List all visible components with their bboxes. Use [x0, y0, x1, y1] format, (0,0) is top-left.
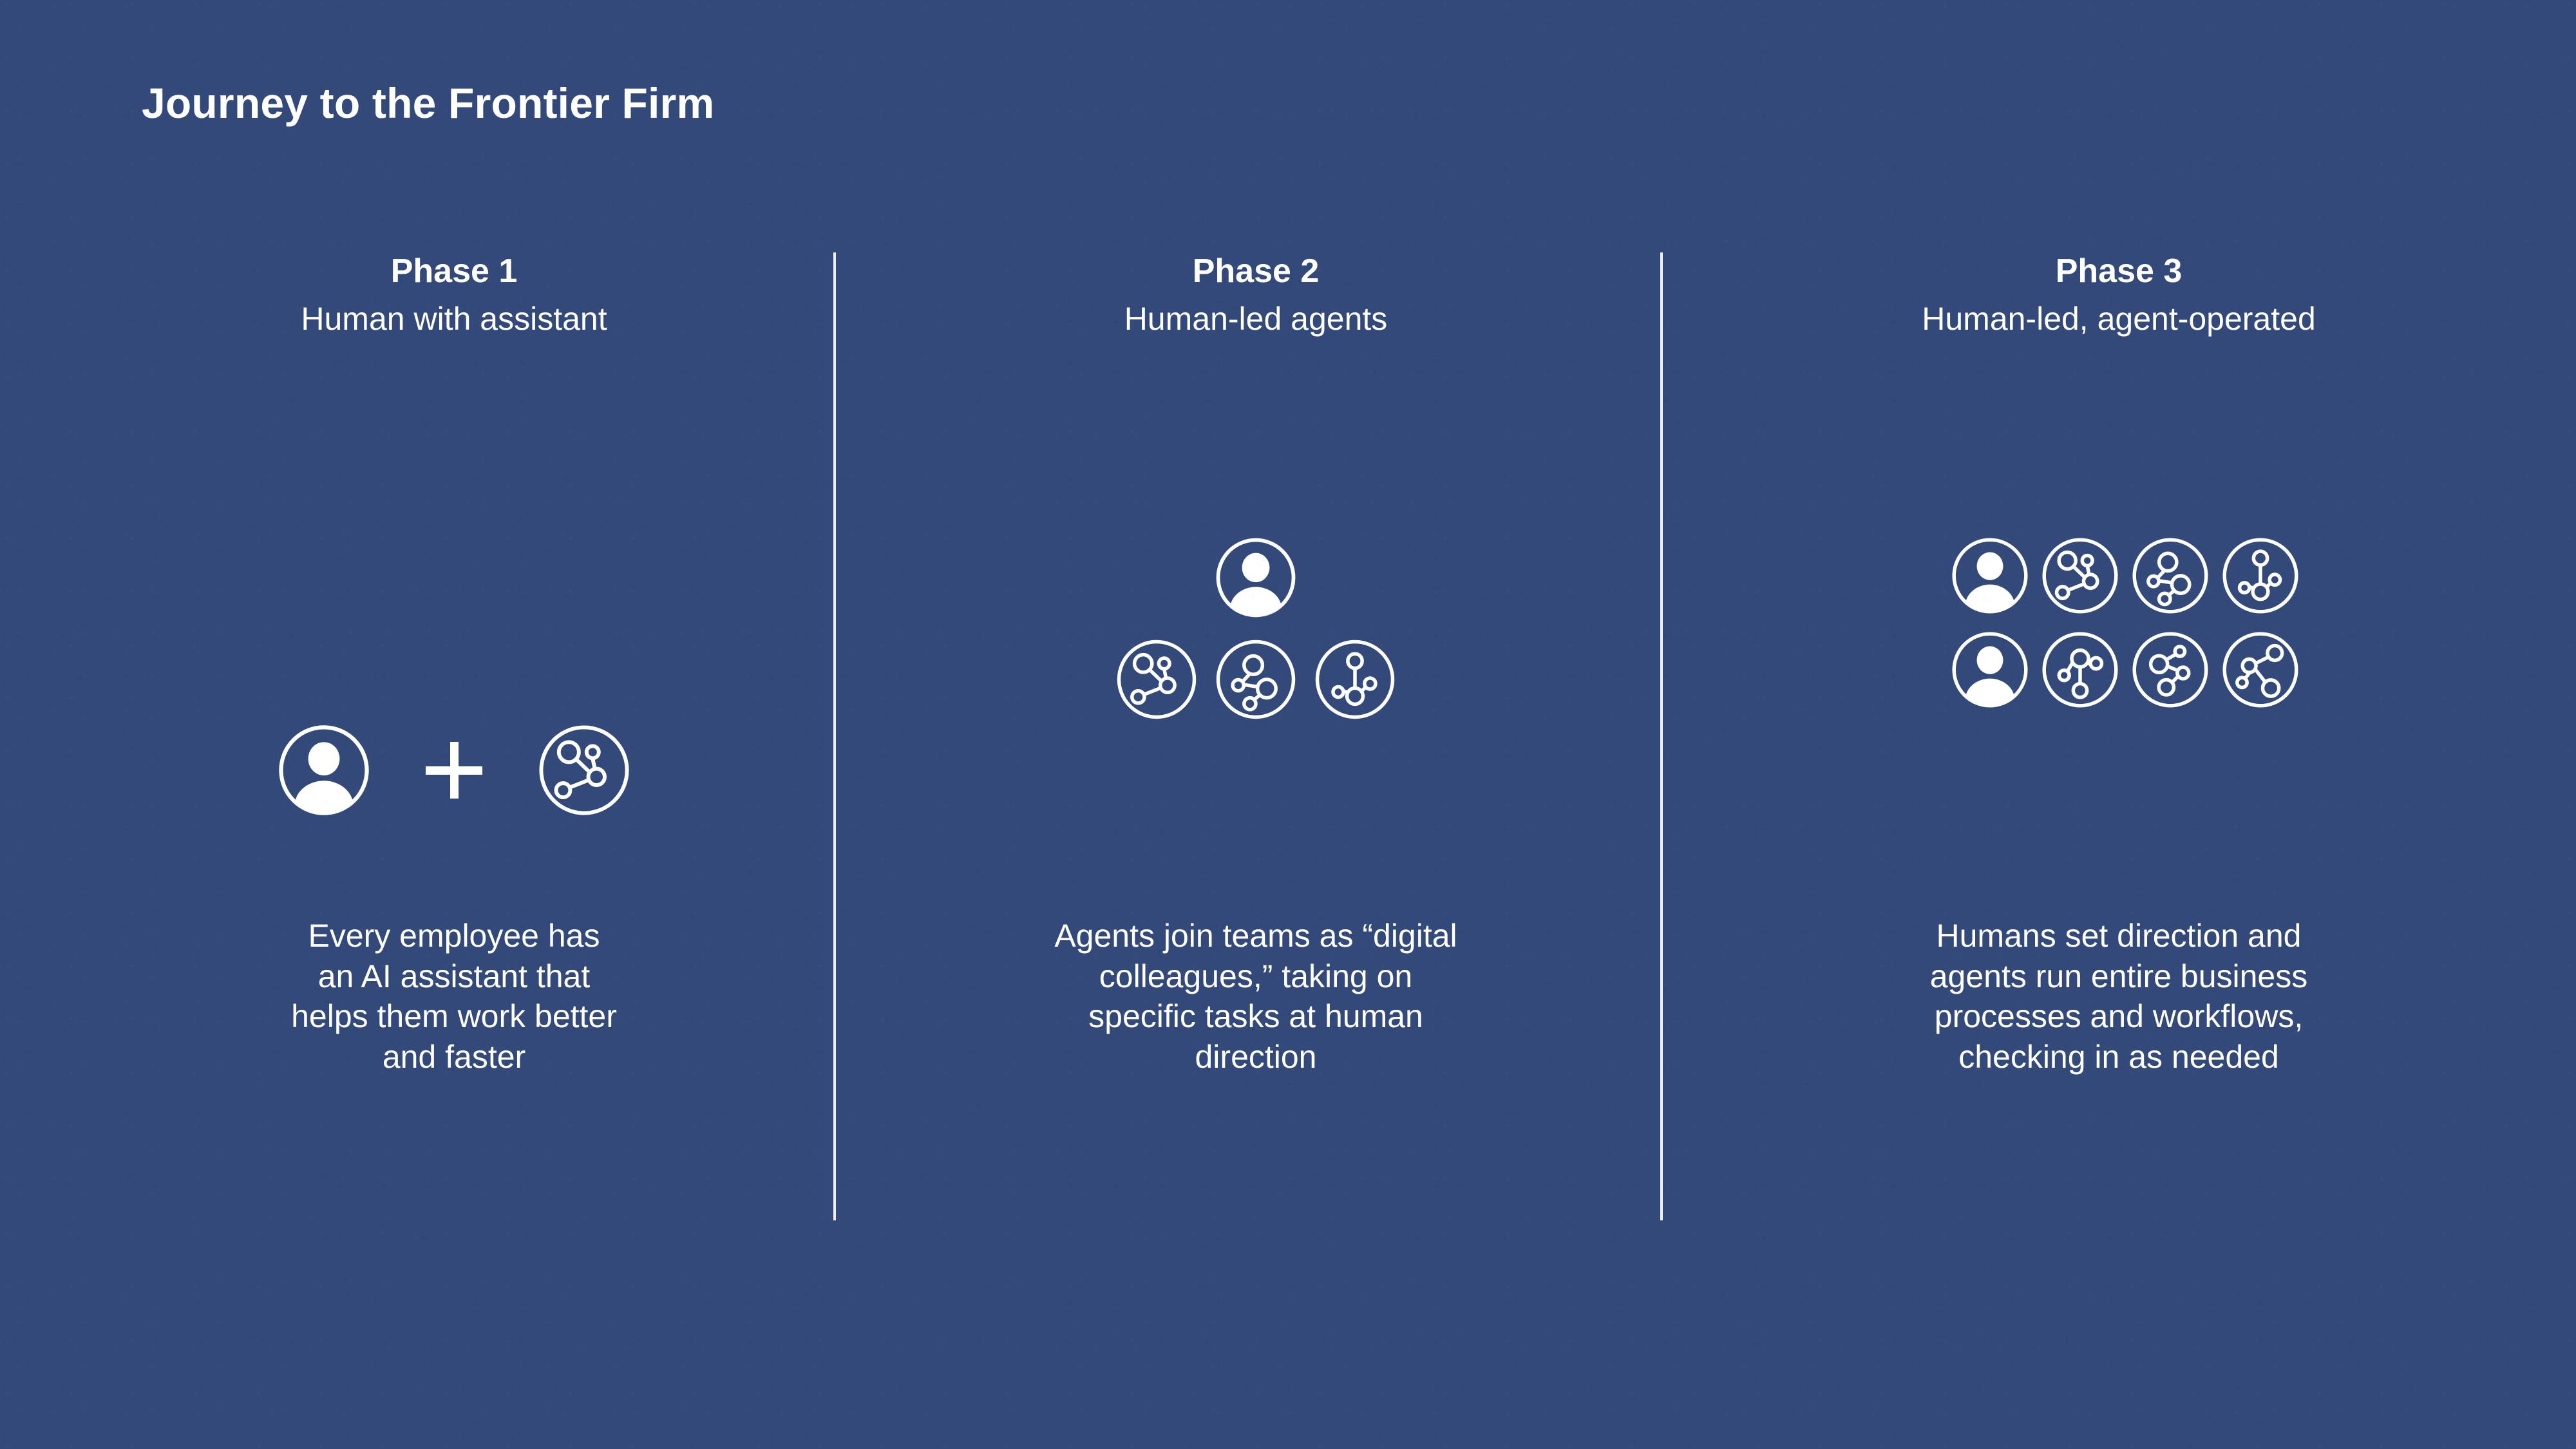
phase-3-icon-cluster [1803, 536, 2447, 710]
agent-network-icon [2040, 630, 2120, 710]
phase-2-human-row [902, 536, 1610, 620]
phase-3-body-line: Humans set direction and [1739, 916, 2499, 956]
phase-1-body-line: and faster [109, 1037, 799, 1077]
phase-2-body-line: direction [902, 1037, 1610, 1077]
phase-3-body: Humans set direction and agents run enti… [1739, 916, 2499, 1077]
agent-network-icon [1115, 638, 1198, 721]
column-divider-1 [833, 252, 836, 1220]
phase-2-label: Phase 2 [902, 252, 1610, 290]
phase-3-subtitle: Human-led, agent-operated [1739, 300, 2499, 338]
agent-network-icon [1214, 638, 1298, 721]
phase-1-label: Phase 1 [90, 252, 818, 290]
agent-network-icon [536, 723, 632, 818]
phase-2-agent-row [902, 638, 1610, 721]
agent-network-icon [2130, 536, 2210, 616]
phase-2-subtitle: Human-led agents [902, 300, 1610, 338]
phase-3-icon-row [1803, 630, 2447, 710]
phase-1-body-line: helps them work better [109, 996, 799, 1037]
agent-network-icon [2221, 630, 2300, 710]
phase-column-3: Phase 3 Human-led, agent-operated [1739, 252, 2499, 338]
phase-1-body: Every employee has an AI assistant that … [109, 916, 799, 1077]
phase-1-body-line: an AI assistant that [109, 956, 799, 997]
person-avatar-icon [1214, 536, 1298, 620]
phase-3-body-line: agents run entire business [1739, 956, 2499, 997]
person-avatar-icon [1950, 536, 2030, 616]
agent-network-icon [1313, 638, 1397, 721]
phase-1-icon-cluster [90, 723, 818, 818]
plus-icon [426, 742, 482, 799]
phase-1-body-line: Every employee has [109, 916, 799, 956]
agent-network-icon [2221, 536, 2300, 616]
phase-column-1: Phase 1 Human with assistant [90, 252, 818, 338]
person-avatar-icon [276, 723, 372, 818]
phase-2-icon-cluster [902, 536, 1610, 721]
phase-2-body: Agents join teams as “digital colleagues… [902, 916, 1610, 1077]
phase-column-2: Phase 2 Human-led agents [902, 252, 1610, 338]
phase-3-body-line: processes and workflows, [1739, 996, 2499, 1037]
person-avatar-icon [1950, 630, 2030, 710]
phase-3-icon-row [1803, 536, 2447, 616]
phase-1-header: Phase 1 Human with assistant [90, 252, 818, 338]
phase-3-header: Phase 3 Human-led, agent-operated [1739, 252, 2499, 338]
phase-3-body-line: checking in as needed [1739, 1037, 2499, 1077]
phase-1-subtitle: Human with assistant [90, 300, 818, 338]
page-title: Journey to the Frontier Firm [142, 79, 714, 128]
phase-2-body-line: colleagues,” taking on [902, 956, 1610, 997]
phase-3-label: Phase 3 [1739, 252, 2499, 290]
column-divider-2 [1660, 252, 1663, 1220]
phase-2-header: Phase 2 Human-led agents [902, 252, 1610, 338]
phase-2-body-line: Agents join teams as “digital [902, 916, 1610, 956]
phase-1-icon-row [90, 723, 818, 818]
agent-network-icon [2040, 536, 2120, 616]
phase-2-body-line: specific tasks at human [902, 996, 1610, 1037]
agent-network-icon [2130, 630, 2210, 710]
